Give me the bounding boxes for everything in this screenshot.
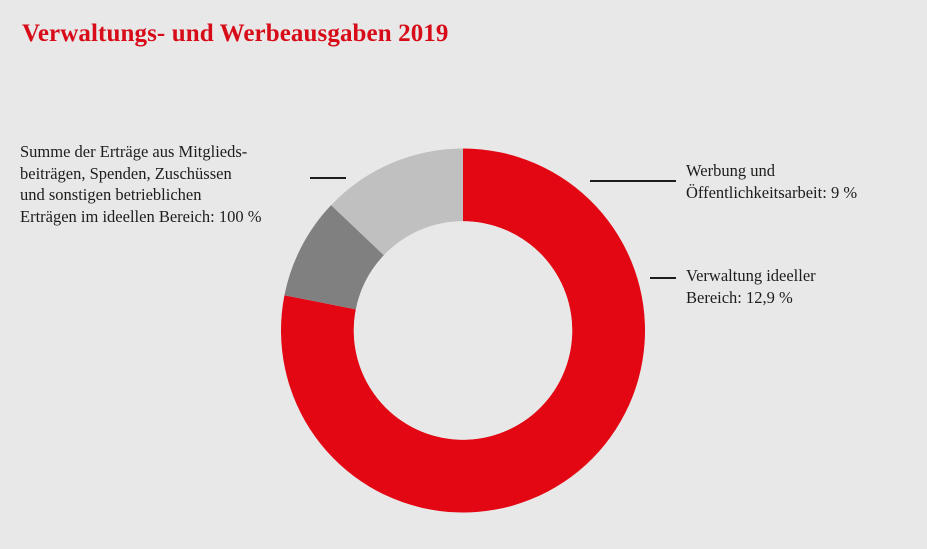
- callout-label-line: und sonstigen betrieblichen: [20, 184, 320, 206]
- callout-label-line: Bereich: 12,9 %: [686, 287, 926, 309]
- callout-label-line: beiträgen, Spenden, Zuschüssen: [20, 163, 320, 185]
- callout-label-line: Werbung und: [686, 160, 926, 182]
- callout-label-verwaltung: Verwaltung ideeller Bereich: 12,9 %: [686, 265, 926, 308]
- chart-page: Verwaltungs- und Werbeausgaben 2019 Summ…: [0, 0, 927, 549]
- leader-line-right-top: [590, 180, 676, 182]
- donut-chart: [281, 148, 645, 513]
- leader-line-right-bottom: [650, 277, 676, 279]
- callout-label-line: Erträgen im ideellen Bereich: 100 %: [20, 206, 320, 228]
- page-title: Verwaltungs- und Werbeausgaben 2019: [22, 20, 449, 48]
- callout-label-line: Verwaltung ideeller: [686, 265, 926, 287]
- callout-label-line: Öffentlichkeitsarbeit: 9 %: [686, 182, 926, 204]
- callout-label-werbung: Werbung und Öffentlichkeitsarbeit: 9 %: [686, 160, 926, 203]
- callout-label-line: Summe der Erträge aus Mitglieds-: [20, 141, 320, 163]
- donut-chart-svg: [281, 148, 645, 513]
- callout-label-gesamtertraege: Summe der Erträge aus Mitglieds- beiträg…: [20, 141, 320, 227]
- donut-center-hole: [354, 221, 572, 439]
